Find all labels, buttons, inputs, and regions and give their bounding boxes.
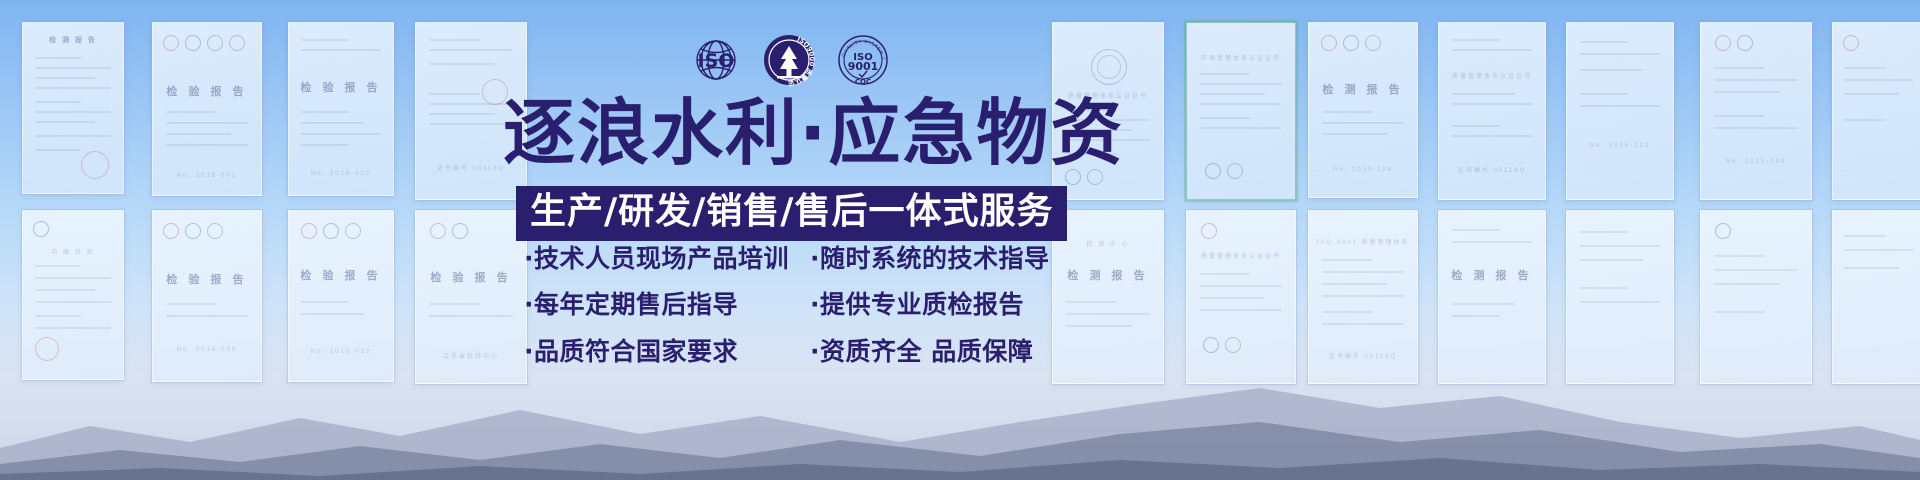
feature-item: ·品质符合国家要求 <box>524 336 810 367</box>
certificate-thumbnail: 环境管理体系认证证书 <box>1186 22 1296 200</box>
certificate-thumbnail <box>1832 22 1920 200</box>
certificate-thumbnail: 检 验 报 告 No. 2018-002 <box>288 22 394 196</box>
certificate-thumbnail: No. 2020-034 <box>1700 22 1812 200</box>
iso-globe-badge: ISO <box>690 34 742 91</box>
feature-item: ·随时系统的技术指导 <box>810 243 1050 274</box>
feature-item: ·技术人员现场产品培训 <box>524 243 810 274</box>
feature-row: ·每年定期售后指导 ·提供专业质检报告 <box>524 289 1084 320</box>
feature-row: ·技术人员现场产品培训 ·随时系统的技术指导 <box>524 243 1084 274</box>
banner-feature-list: ·技术人员现场产品培训 ·随时系统的技术指导 ·每年定期售后指导 ·提供专业质检… <box>524 243 1084 382</box>
certificate-thumbnail: 检 验 报 告 No. 2018-001 <box>152 22 262 196</box>
certificate-thumbnail: 质量管理体系认证证书 证书编号 00118Q <box>1438 22 1546 200</box>
certificate-thumbnail: 检 测 报 告 <box>22 22 124 194</box>
banner-subtitle-bar: 生产/研发/销售/售后一体式服务 <box>516 186 1067 241</box>
feature-item: ·资质齐全 品质保障 <box>810 336 1033 367</box>
feature-item: ·提供专业质检报告 <box>810 289 1024 320</box>
iso-9001-cqc-badge-bottom-label: 9001 <box>848 60 879 73</box>
iso-globe-badge-label: ISO <box>698 50 735 72</box>
iso-9001-cqc-badge-foot-label: CQC <box>855 78 871 86</box>
certification-badges: ISO ISO9000 质量认证 <box>690 33 890 91</box>
feature-row: ·品质符合国家要求 ·资质齐全 品质保障 <box>524 336 1084 367</box>
certificate-thumbnail: 检 测 报 告 No. 2019-118 <box>1308 22 1418 198</box>
iso-9000-seal-badge: ISO9000 质量认证 <box>762 33 816 92</box>
iso-9001-cqc-badge: QUALITY SYSTEM CERT ISO 9001 CQC <box>836 33 890 92</box>
promo-banner: 检 测 报 告 检 验 报 告 No. 2018-001 检 验 报 告 No.… <box>0 0 1920 480</box>
certificate-thumbnail: No. 2019-220 <box>1566 22 1674 200</box>
feature-item: ·每年定期售后指导 <box>524 289 810 320</box>
banner-headline: 逐浪水利·应急物资 <box>503 97 1124 169</box>
